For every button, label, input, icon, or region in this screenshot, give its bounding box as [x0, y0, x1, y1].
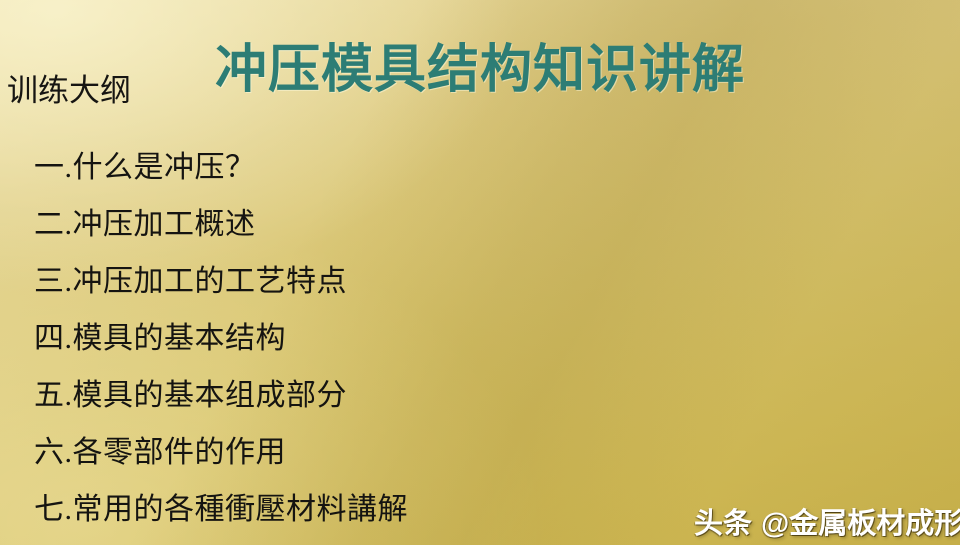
list-item: 一.什么是冲压？ [34, 139, 408, 196]
list-item: 四.模具的基本结构 [34, 310, 408, 367]
watermark-handle: @金属板材成形网 [761, 500, 960, 542]
outline-heading: 训练大纲 [7, 72, 131, 110]
watermark: 头条 @金属板材成形网 [694, 500, 960, 542]
list-item: 六.各零部件的作用 [34, 424, 408, 481]
list-item: 三.冲压加工的工艺特点 [34, 253, 408, 310]
watermark-brand: 头条 [694, 500, 752, 542]
list-item: 五.模具的基本组成部分 [34, 367, 408, 424]
presentation-slide: 冲压模具结构知识讲解 训练大纲 一.什么是冲压？ 二.冲压加工概述 三.冲压加工… [0, 0, 960, 545]
page-title: 冲压模具结构知识讲解 [0, 41, 960, 101]
list-item: 二.冲压加工概述 [34, 196, 408, 253]
list-item: 七.常用的各種衝壓材料講解 [34, 481, 408, 538]
outline-list: 一.什么是冲压？ 二.冲压加工概述 三.冲压加工的工艺特点 四.模具的基本结构 … [34, 139, 408, 538]
